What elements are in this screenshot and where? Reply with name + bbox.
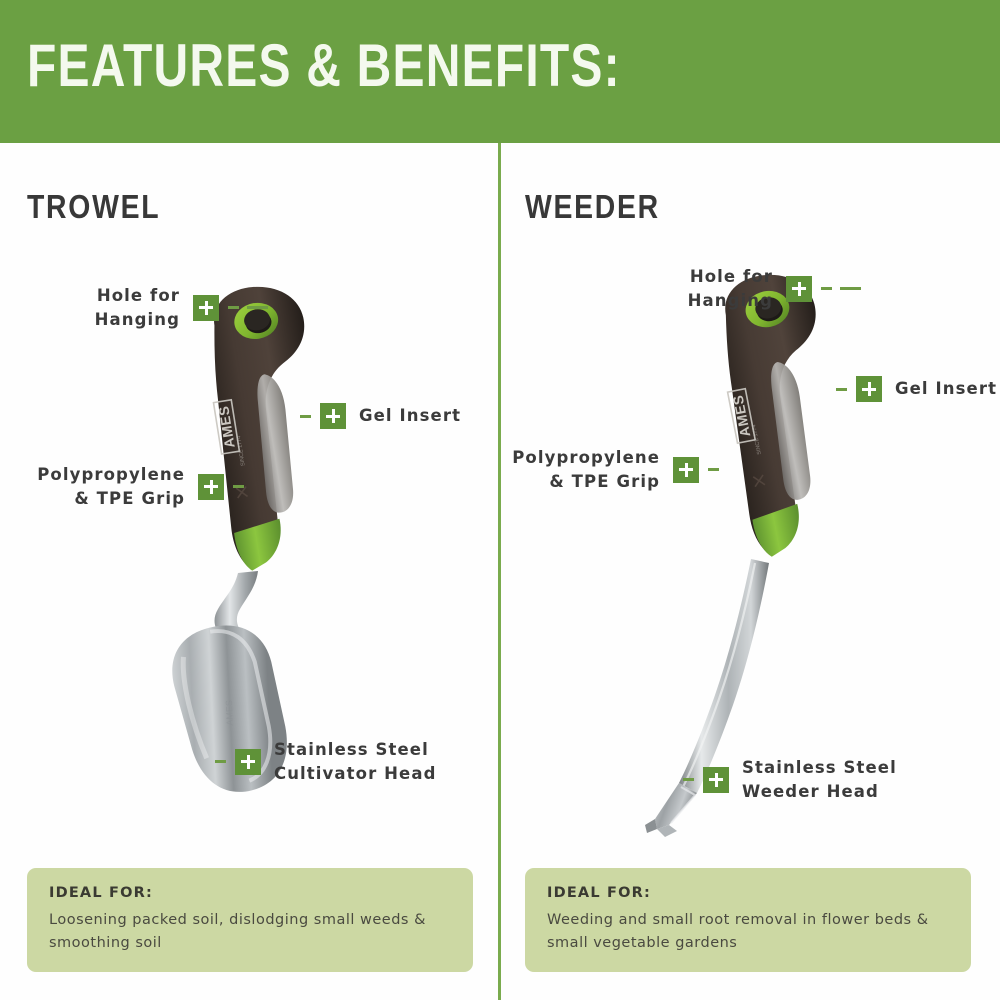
callout-label: Polypropylene & TPE Grip [37, 463, 185, 511]
callout-polypropylene-tpe-grip[interactable]: Polypropylene & TPE Grip [14, 463, 244, 511]
callout-hole-for-hanging[interactable]: Hole for Hanging [611, 265, 861, 313]
callout-polypropylene-tpe-grip[interactable]: Polypropylene & TPE Grip [509, 446, 719, 494]
connector-line [228, 306, 268, 309]
plus-badge-icon [235, 749, 261, 775]
callout-hole-for-hanging[interactable]: Hole for Hanging [18, 284, 268, 332]
page-title: FEATURES & BENEFITS: [27, 36, 621, 96]
ideal-for-box-weeder: IDEAL FOR: Weeding and small root remova… [525, 868, 971, 972]
callout-label: Stainless Steel Weeder Head [742, 756, 897, 804]
header-banner: FEATURES & BENEFITS: [0, 0, 1000, 143]
column-title-trowel: TROWEL [27, 188, 160, 226]
svg-text:SINCE 1774: SINCE 1774 [751, 424, 763, 455]
callout-stainless-steel-weeder-head[interactable]: Stainless Steel Weeder Head [683, 756, 897, 804]
ideal-for-title: IDEAL FOR: [547, 885, 949, 901]
callout-label: Hole for Hanging [688, 265, 773, 313]
connector-line [708, 468, 719, 471]
infographic-page: FEATURES & BENEFITS: TROWEL [0, 0, 1000, 1000]
ideal-for-box-trowel: IDEAL FOR: Loosening packed soil, dislod… [27, 868, 473, 972]
column-title-weeder: WEEDER [525, 188, 660, 226]
svg-text:AMES: AMES [215, 405, 237, 449]
ideal-for-title: IDEAL FOR: [49, 885, 451, 901]
svg-text:SINCE 1774: SINCE 1774 [236, 435, 247, 466]
connector-line [836, 388, 847, 391]
plus-badge-icon [786, 276, 812, 302]
column-weeder: WEEDER [501, 143, 1000, 1000]
plus-badge-icon [673, 457, 699, 483]
ideal-for-body: Loosening packed soil, dislodging small … [49, 909, 451, 954]
svg-text:AMES: AMES [729, 394, 753, 439]
callout-stainless-steel-cultivator-head[interactable]: Stainless Steel Cultivator Head [215, 738, 437, 786]
plus-badge-icon [320, 403, 346, 429]
callout-label: Polypropylene & TPE Grip [512, 446, 660, 494]
column-trowel: TROWEL [0, 143, 499, 1000]
connector-line [233, 485, 244, 488]
callout-label: Gel Insert [359, 404, 461, 428]
plus-badge-icon [198, 474, 224, 500]
trowel-illustration: AMES SINCE 1774 [130, 273, 380, 793]
connector-line [215, 760, 226, 763]
callout-gel-insert[interactable]: Gel Insert [836, 376, 997, 402]
connector-line [300, 415, 311, 418]
svg-text:AMES: AMES [224, 700, 235, 726]
connector-line [683, 778, 694, 781]
callout-label: Gel Insert [895, 377, 997, 401]
ideal-for-body: Weeding and small root removal in flower… [547, 909, 949, 954]
plus-badge-icon [703, 767, 729, 793]
callout-gel-insert[interactable]: Gel Insert [300, 403, 461, 429]
plus-badge-icon [856, 376, 882, 402]
connector-line [821, 287, 861, 290]
callout-label: Hole for Hanging [95, 284, 180, 332]
callout-label: Stainless Steel Cultivator Head [274, 738, 437, 786]
plus-badge-icon [193, 295, 219, 321]
